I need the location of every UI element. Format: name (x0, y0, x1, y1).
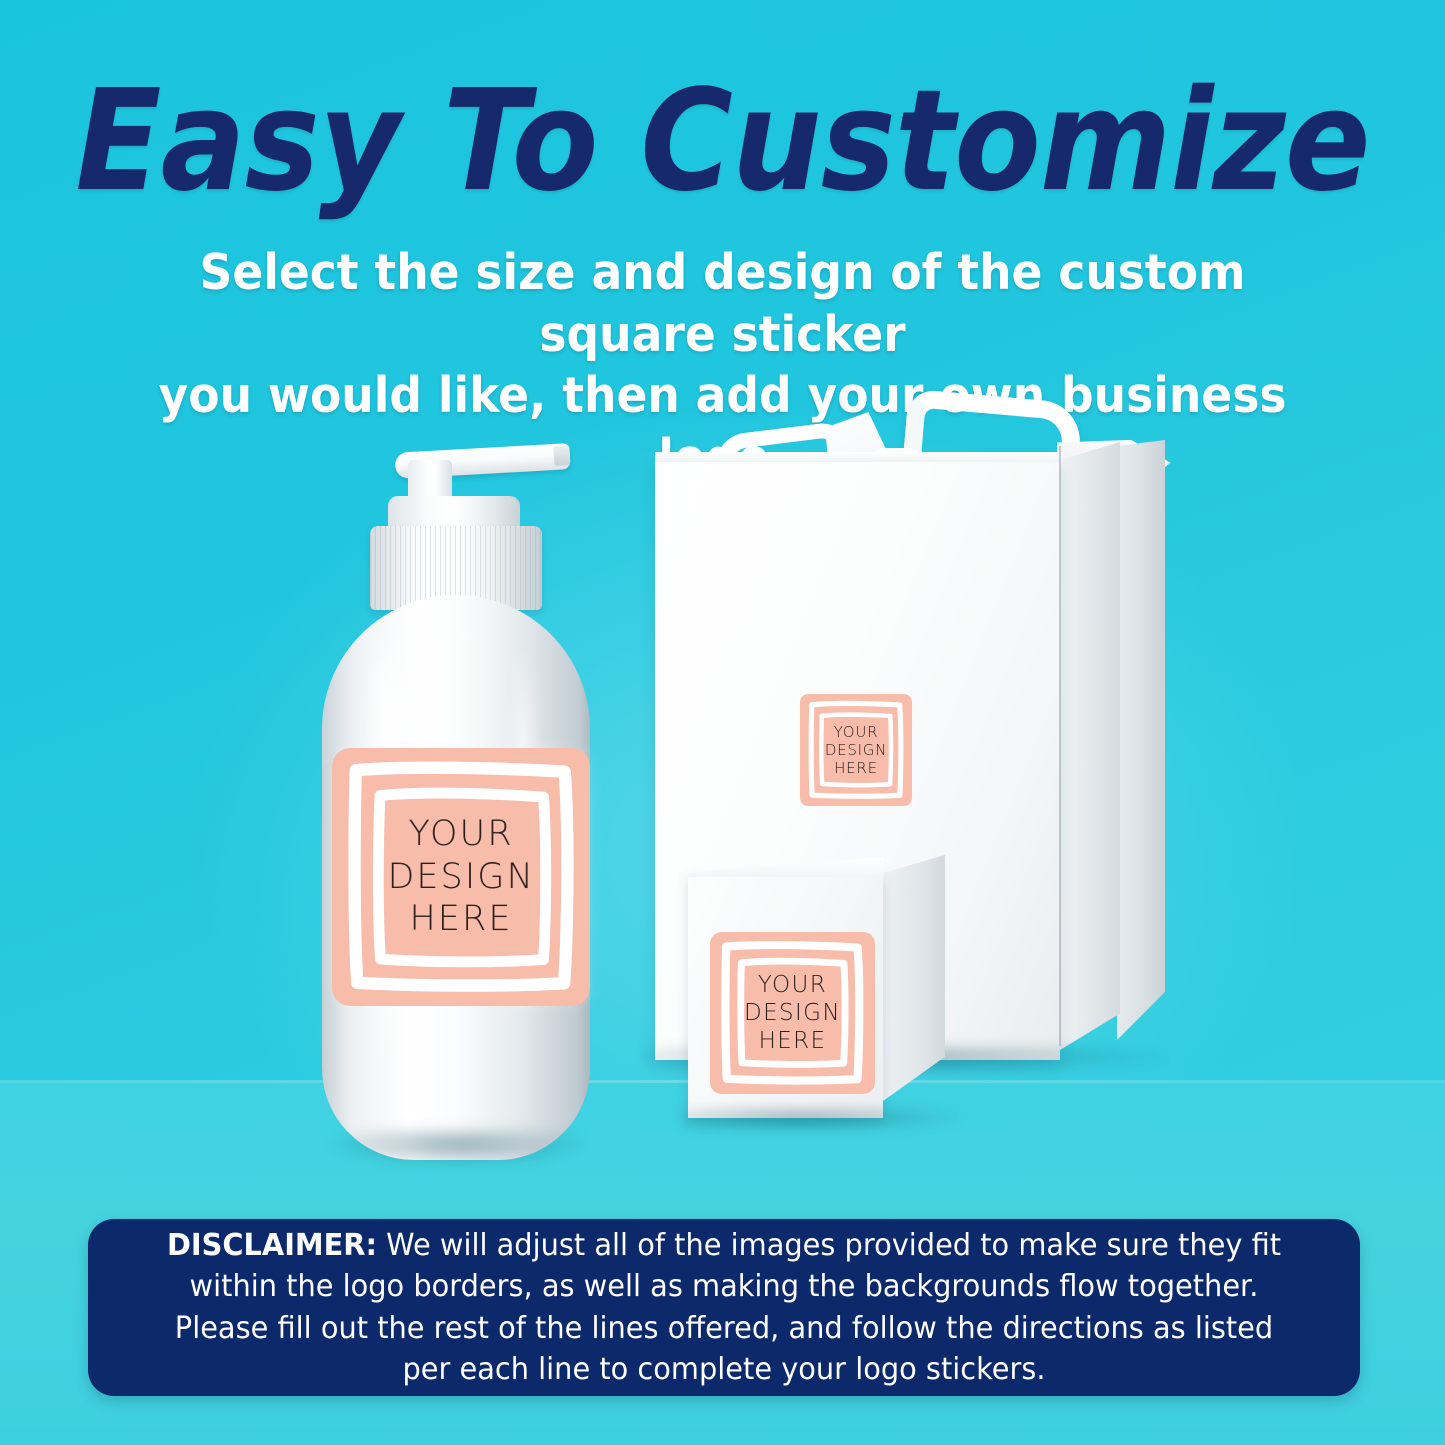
sticker-line-1: YOUR (409, 813, 514, 856)
sticker-line-3: HERE (759, 1027, 827, 1055)
disclaimer-text: DISCLAIMER: We will adjust all of the im… (155, 1225, 1293, 1391)
gift-box-seam (1059, 446, 1061, 1046)
gift-box-back-panel (1117, 440, 1165, 1040)
sticker-on-bottle[interactable]: YOUR DESIGN HERE (332, 748, 590, 1006)
subtitle-line-1: Select the size and design of the custom… (140, 242, 1305, 365)
gift-box-lid-edge (655, 452, 1063, 462)
disclaimer-banner: DISCLAIMER: We will adjust all of the im… (88, 1219, 1360, 1396)
page-title: Easy To Customize (72, 72, 1373, 212)
sticker-line-1: YOUR (758, 971, 827, 999)
small-box-top-panel (688, 857, 884, 877)
small-box-side-panel (883, 855, 945, 1101)
sticker-line-2: DESIGN (744, 999, 841, 1027)
sticker-on-gift-box[interactable]: YOUR DESIGN HERE (800, 694, 912, 806)
sticker-text: YOUR DESIGN HERE (710, 932, 875, 1094)
sticker-line-2: DESIGN (825, 741, 887, 759)
sticker-line-3: HERE (410, 898, 513, 941)
poster-canvas: Easy To Customize Select the size and de… (0, 0, 1445, 1445)
sticker-text: YOUR DESIGN HERE (800, 694, 912, 806)
sticker-line-1: YOUR (834, 723, 879, 741)
disclaimer-label: DISCLAIMER: (167, 1228, 377, 1263)
sticker-line-3: HERE (834, 759, 878, 777)
small-box-shadow (682, 1107, 962, 1133)
sticker-text: YOUR DESIGN HERE (333, 748, 590, 1006)
bottle-shadow (326, 1130, 588, 1166)
sticker-on-small-box[interactable]: YOUR DESIGN HERE (710, 932, 875, 1094)
gift-box-side-panel (1060, 442, 1120, 1050)
sticker-line-2: DESIGN (388, 856, 535, 899)
